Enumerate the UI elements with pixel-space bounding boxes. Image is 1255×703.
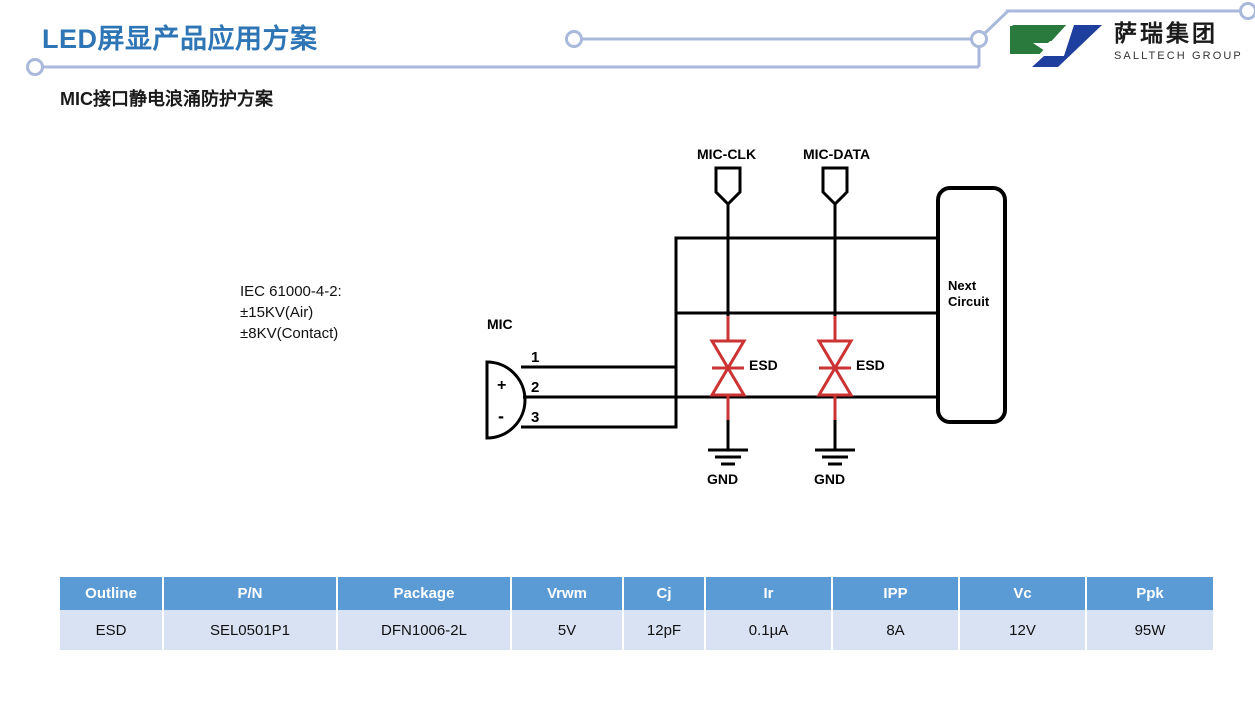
pin-number-1: 1 bbox=[531, 349, 539, 366]
logo-name-cn: 萨瑞集团 bbox=[1114, 20, 1254, 48]
cell-ipp: 8A bbox=[832, 610, 959, 650]
next-circuit-block bbox=[938, 188, 1005, 422]
cell-pn: SEL0501P1 bbox=[163, 610, 337, 650]
logo-name-en: SALLTECH GROUP bbox=[1114, 49, 1254, 63]
cell-ppk: 95W bbox=[1086, 610, 1213, 650]
col-header-ir: Ir bbox=[705, 577, 832, 610]
col-header-package: Package bbox=[337, 577, 511, 610]
cell-package: DFN1006-2L bbox=[337, 610, 511, 650]
logo-wordmark: 萨瑞集团 SALLTECH GROUP bbox=[1114, 20, 1254, 63]
col-header-ipp: IPP bbox=[832, 577, 959, 610]
connector-minus-label: - bbox=[498, 406, 504, 426]
iec-standard-note: IEC 61000-4-2: ±15KV(Air) ±8KV(Contact) bbox=[240, 281, 342, 344]
table-header-row: Outline P/N Package Vrwm Cj Ir IPP Vc Pp… bbox=[60, 577, 1213, 610]
iec-note-line-1: IEC 61000-4-2: bbox=[240, 281, 342, 302]
wire-pin-3 bbox=[521, 313, 1005, 427]
cell-vrwm: 5V bbox=[511, 610, 623, 650]
circuit-schematic: 1 2 3 + - bbox=[0, 120, 1100, 510]
col-header-cj: Cj bbox=[623, 577, 705, 610]
col-header-pn: P/N bbox=[163, 577, 337, 610]
page-title: LED屏显产品应用方案 bbox=[42, 17, 318, 56]
table-row: ESD SEL0501P1 DFN1006-2L 5V 12pF 0.1µA 8… bbox=[60, 610, 1213, 650]
esd-diode-clk bbox=[712, 341, 744, 395]
connector-plus-label: + bbox=[497, 377, 506, 394]
col-header-ppk: Ppk bbox=[1086, 577, 1213, 610]
pin-number-3: 3 bbox=[531, 409, 539, 426]
iec-note-line-3: ±8KV(Contact) bbox=[240, 323, 342, 344]
ground-symbol-data bbox=[815, 450, 855, 464]
brand-logo: 萨瑞集团 SALLTECH GROUP bbox=[1008, 20, 1248, 75]
salltech-logo-icon bbox=[1008, 23, 1106, 69]
section-subtitle: MIC接口静电浪涌防护方案 bbox=[60, 85, 273, 111]
iec-note-line-2: ±15KV(Air) bbox=[240, 302, 342, 323]
cell-ir: 0.1µA bbox=[705, 610, 832, 650]
mic-connector-body bbox=[487, 362, 525, 438]
wire-pin-1 bbox=[521, 238, 1005, 367]
col-header-outline: Outline bbox=[60, 577, 163, 610]
pin-number-2: 2 bbox=[531, 379, 539, 396]
esd-diode-data bbox=[819, 341, 851, 395]
spec-table: Outline P/N Package Vrwm Cj Ir IPP Vc Pp… bbox=[60, 577, 1213, 650]
mic-clk-port-icon bbox=[716, 168, 740, 204]
col-header-vrwm: Vrwm bbox=[511, 577, 623, 610]
mic-data-port-icon bbox=[823, 168, 847, 204]
cell-vc: 12V bbox=[959, 610, 1086, 650]
col-header-vc: Vc bbox=[959, 577, 1086, 610]
cell-cj: 12pF bbox=[623, 610, 705, 650]
cell-outline: ESD bbox=[60, 610, 163, 650]
ground-symbol-clk bbox=[708, 450, 748, 464]
